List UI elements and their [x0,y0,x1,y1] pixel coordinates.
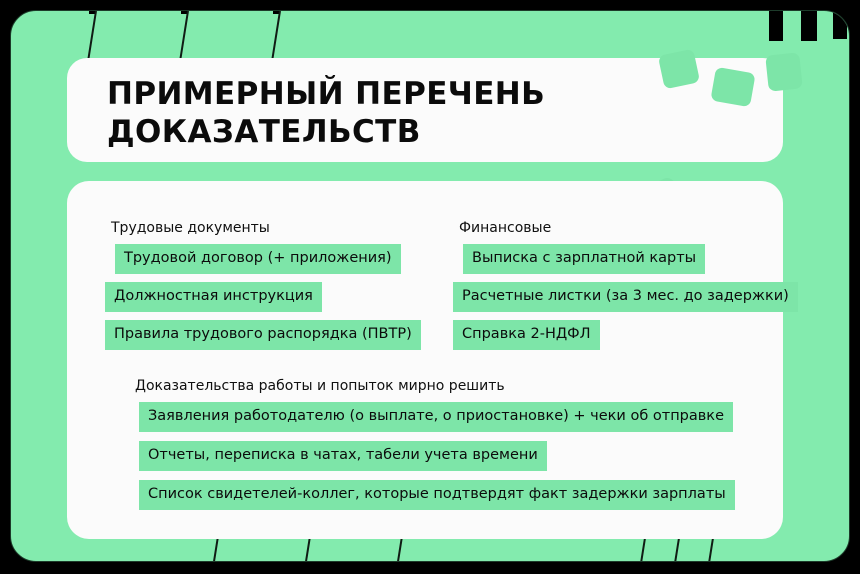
section-label-work-proof: Доказательства работы и попыток мирно ре… [135,377,779,395]
evidence-chip: Трудовой договор (+ приложения) [115,244,401,274]
financial-items-list: Выписка с зарплатной карты Расчетные лис… [453,244,783,350]
content-card: Трудовые документы Трудовой договор (+ п… [67,181,783,539]
evidence-chip: Правила трудового распорядка (ПВТР) [105,320,421,350]
frame-notch [833,10,847,39]
evidence-chip: Расчетные листки (за 3 мес. до задержки) [453,282,798,312]
frame-notch [769,10,783,41]
list-item: Отчеты, переписка в чатах, табели учета … [129,441,779,471]
section-financial-documents: Финансовые Выписка с зарплатной карты Ра… [453,219,783,358]
evidence-chip: Выписка с зарплатной карты [463,244,705,274]
work-proof-items-list: Заявления работодателю (о выплате, о при… [129,402,779,510]
list-item: Список свидетелей-коллег, которые подтве… [129,480,779,510]
list-item: Справка 2-НДФЛ [453,320,783,350]
list-item: Трудовой договор (+ приложения) [105,244,445,274]
list-item: Правила трудового распорядка (ПВТР) [105,320,445,350]
evidence-chip: Должностная инструкция [105,282,322,312]
green-frame: ПРИМЕРНЫЙ ПЕРЕЧЕНЬ ДОКАЗАТЕЛЬСТВ Трудовы… [10,10,850,562]
evidence-chip: Список свидетелей-коллег, которые подтве… [139,480,735,510]
evidence-chip: Заявления работодателю (о выплате, о при… [139,402,733,432]
poster-canvas: ПРИМЕРНЫЙ ПЕРЕЧЕНЬ ДОКАЗАТЕЛЬСТВ Трудовы… [0,0,860,574]
list-item: Выписка с зарплатной карты [453,244,783,274]
confetti-shape [765,52,803,91]
page-title: ПРИМЕРНЫЙ ПЕРЕЧЕНЬ ДОКАЗАТЕЛЬСТВ [107,75,727,151]
evidence-chip: Справка 2-НДФЛ [453,320,600,350]
list-item: Заявления работодателю (о выплате, о при… [129,402,779,432]
evidence-chip: Отчеты, переписка в чатах, табели учета … [139,441,547,471]
labor-items-list: Трудовой договор (+ приложения) Должност… [105,244,445,350]
section-label-financial: Финансовые [459,219,783,237]
confetti-shape [710,67,755,107]
frame-notch [801,10,817,41]
title-card: ПРИМЕРНЫЙ ПЕРЕЧЕНЬ ДОКАЗАТЕЛЬСТВ [67,58,783,162]
list-item: Должностная инструкция [105,282,445,312]
section-labor-documents: Трудовые документы Трудовой договор (+ п… [105,219,445,358]
list-item: Расчетные листки (за 3 мес. до задержки) [453,282,783,312]
section-work-proof: Доказательства работы и попыток мирно ре… [129,377,779,519]
section-label-labor: Трудовые документы [111,219,445,237]
